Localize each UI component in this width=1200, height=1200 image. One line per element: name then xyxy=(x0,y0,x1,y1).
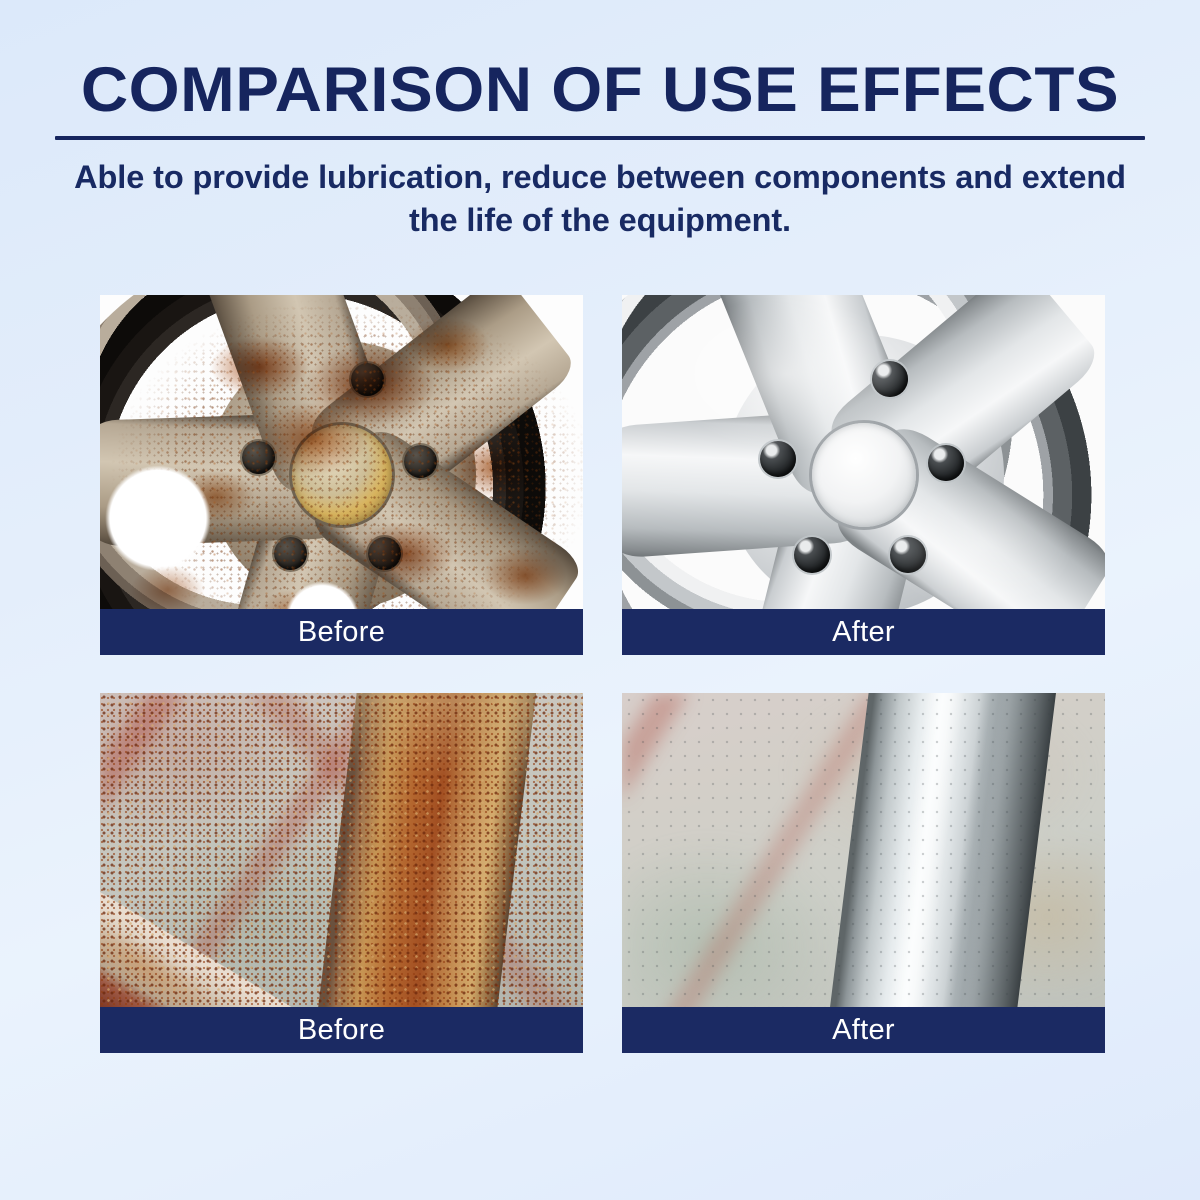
lug-nut xyxy=(351,363,384,396)
photo-clean-metal-pipe xyxy=(622,693,1105,1053)
photo-rusted-metal-pipe xyxy=(100,693,583,1053)
comparison-card-wheel-after: After xyxy=(622,295,1105,655)
lug-nut xyxy=(368,537,401,570)
lug-nut xyxy=(274,537,307,570)
lug-nut xyxy=(242,441,275,474)
lug-nut xyxy=(760,441,796,477)
header: COMPARISON OF USE EFFECTS Able to provid… xyxy=(0,0,1200,243)
comparison-card-wheel-before: Before xyxy=(100,295,583,655)
wheel-hub xyxy=(724,335,1004,615)
lug-nut xyxy=(890,537,926,573)
lug-nut xyxy=(872,361,908,397)
comparison-card-pipe-before: Before xyxy=(100,693,583,1053)
lug-nut xyxy=(794,537,830,573)
wheel-center-cap xyxy=(292,425,392,525)
page-title: COMPARISON OF USE EFFECTS xyxy=(30,58,1170,122)
photo-rusted-alloy-wheel xyxy=(100,295,583,655)
wheel-center-cap xyxy=(812,423,916,527)
title-divider-rule xyxy=(55,136,1145,140)
label-before: Before xyxy=(100,1007,583,1053)
comparison-grid: Before xyxy=(100,295,1100,1053)
label-after: After xyxy=(622,1007,1105,1053)
wheel-hub xyxy=(208,341,476,609)
page-subtitle: Able to provide lubrication, reduce betw… xyxy=(52,156,1148,242)
label-after: After xyxy=(622,609,1105,655)
lug-nut xyxy=(404,445,437,478)
label-before: Before xyxy=(100,609,583,655)
lug-nut xyxy=(928,445,964,481)
comparison-card-pipe-after: After xyxy=(622,693,1105,1053)
photo-clean-alloy-wheel xyxy=(622,295,1105,655)
